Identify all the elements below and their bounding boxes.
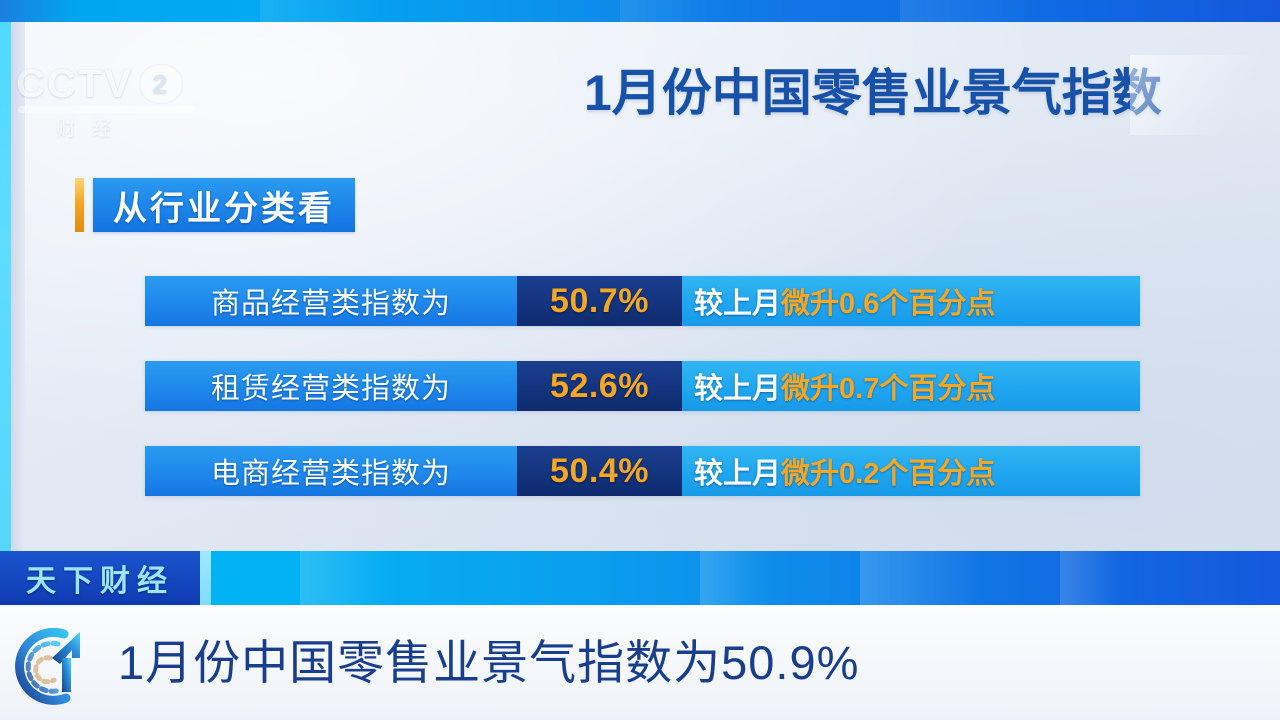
row-value: 50.4% (517, 446, 682, 496)
subtitle-accent-bar (75, 178, 84, 232)
band-streak (1060, 551, 1120, 605)
cctv-logo-underline (18, 106, 196, 113)
row-note-prefix: 较上月 (694, 365, 781, 407)
program-name: 天下财经 (26, 556, 174, 600)
cctv-logo-row: CCTV 2 (16, 58, 206, 110)
cctv-logo-text: CCTV (16, 62, 133, 107)
top-bar-streak (900, 0, 1040, 22)
row-value: 50.7% (517, 276, 682, 326)
growth-arrow-logo-icon (6, 614, 102, 710)
table-row: 电商经营类指数为 50.4% 较上月 微升0.2个百分点 (145, 446, 1140, 496)
row-note: 较上月 微升0.6个百分点 (682, 276, 1140, 326)
table-row: 租赁经营类指数为 52.6% 较上月 微升0.7个百分点 (145, 361, 1140, 411)
subtitle-label: 从行业分类看 (113, 181, 335, 230)
row-note: 较上月 微升0.2个百分点 (682, 446, 1140, 496)
band-streak (300, 551, 390, 605)
left-cyan-rail (0, 22, 11, 551)
broadcast-graphic-stage: CCTV 2 财经 1月份中国零售业景气指数 从行业分类看 商品经营类指数为 5… (0, 0, 1280, 720)
page-title: 1月份中国零售业景气指数 (584, 62, 1234, 124)
band-streak (700, 551, 770, 605)
row-note-prefix: 较上月 (694, 450, 781, 492)
table-row: 商品经营类指数为 50.7% 较上月 微升0.6个百分点 (145, 276, 1140, 326)
top-accent-bar (0, 0, 1280, 22)
cctv-watermark-icon: CCTV 2 财经 (16, 58, 206, 158)
row-note: 较上月 微升0.7个百分点 (682, 361, 1140, 411)
data-rows: 商品经营类指数为 50.7% 较上月 微升0.6个百分点 租赁经营类指数为 52… (145, 276, 1140, 531)
row-value: 52.6% (517, 361, 682, 411)
top-bar-streak (620, 0, 710, 22)
subtitle-box: 从行业分类看 (93, 178, 355, 232)
cctv-channel-number: 2 (139, 64, 183, 104)
row-note-prefix: 较上月 (694, 280, 781, 322)
section-subtitle: 从行业分类看 (75, 178, 355, 232)
row-note-highlight: 微升0.2个百分点 (781, 450, 995, 492)
program-name-box: 天下财经 (0, 551, 200, 605)
top-bar-streak (260, 0, 380, 22)
row-note-highlight: 微升0.7个百分点 (781, 365, 995, 407)
row-label: 商品经营类指数为 (145, 276, 517, 326)
row-label: 租赁经营类指数为 (145, 361, 517, 411)
row-label: 电商经营类指数为 (145, 446, 517, 496)
row-note-highlight: 微升0.6个百分点 (781, 280, 995, 322)
band-streak (860, 551, 980, 605)
ticker-headline: 1月份中国零售业景气指数为50.9% (118, 623, 859, 703)
cctv-logo-subtitle: 财经 (56, 112, 206, 141)
program-tab-marker (200, 551, 211, 605)
bottom-ticker: 1月份中国零售业景气指数为50.9% (0, 605, 1280, 720)
